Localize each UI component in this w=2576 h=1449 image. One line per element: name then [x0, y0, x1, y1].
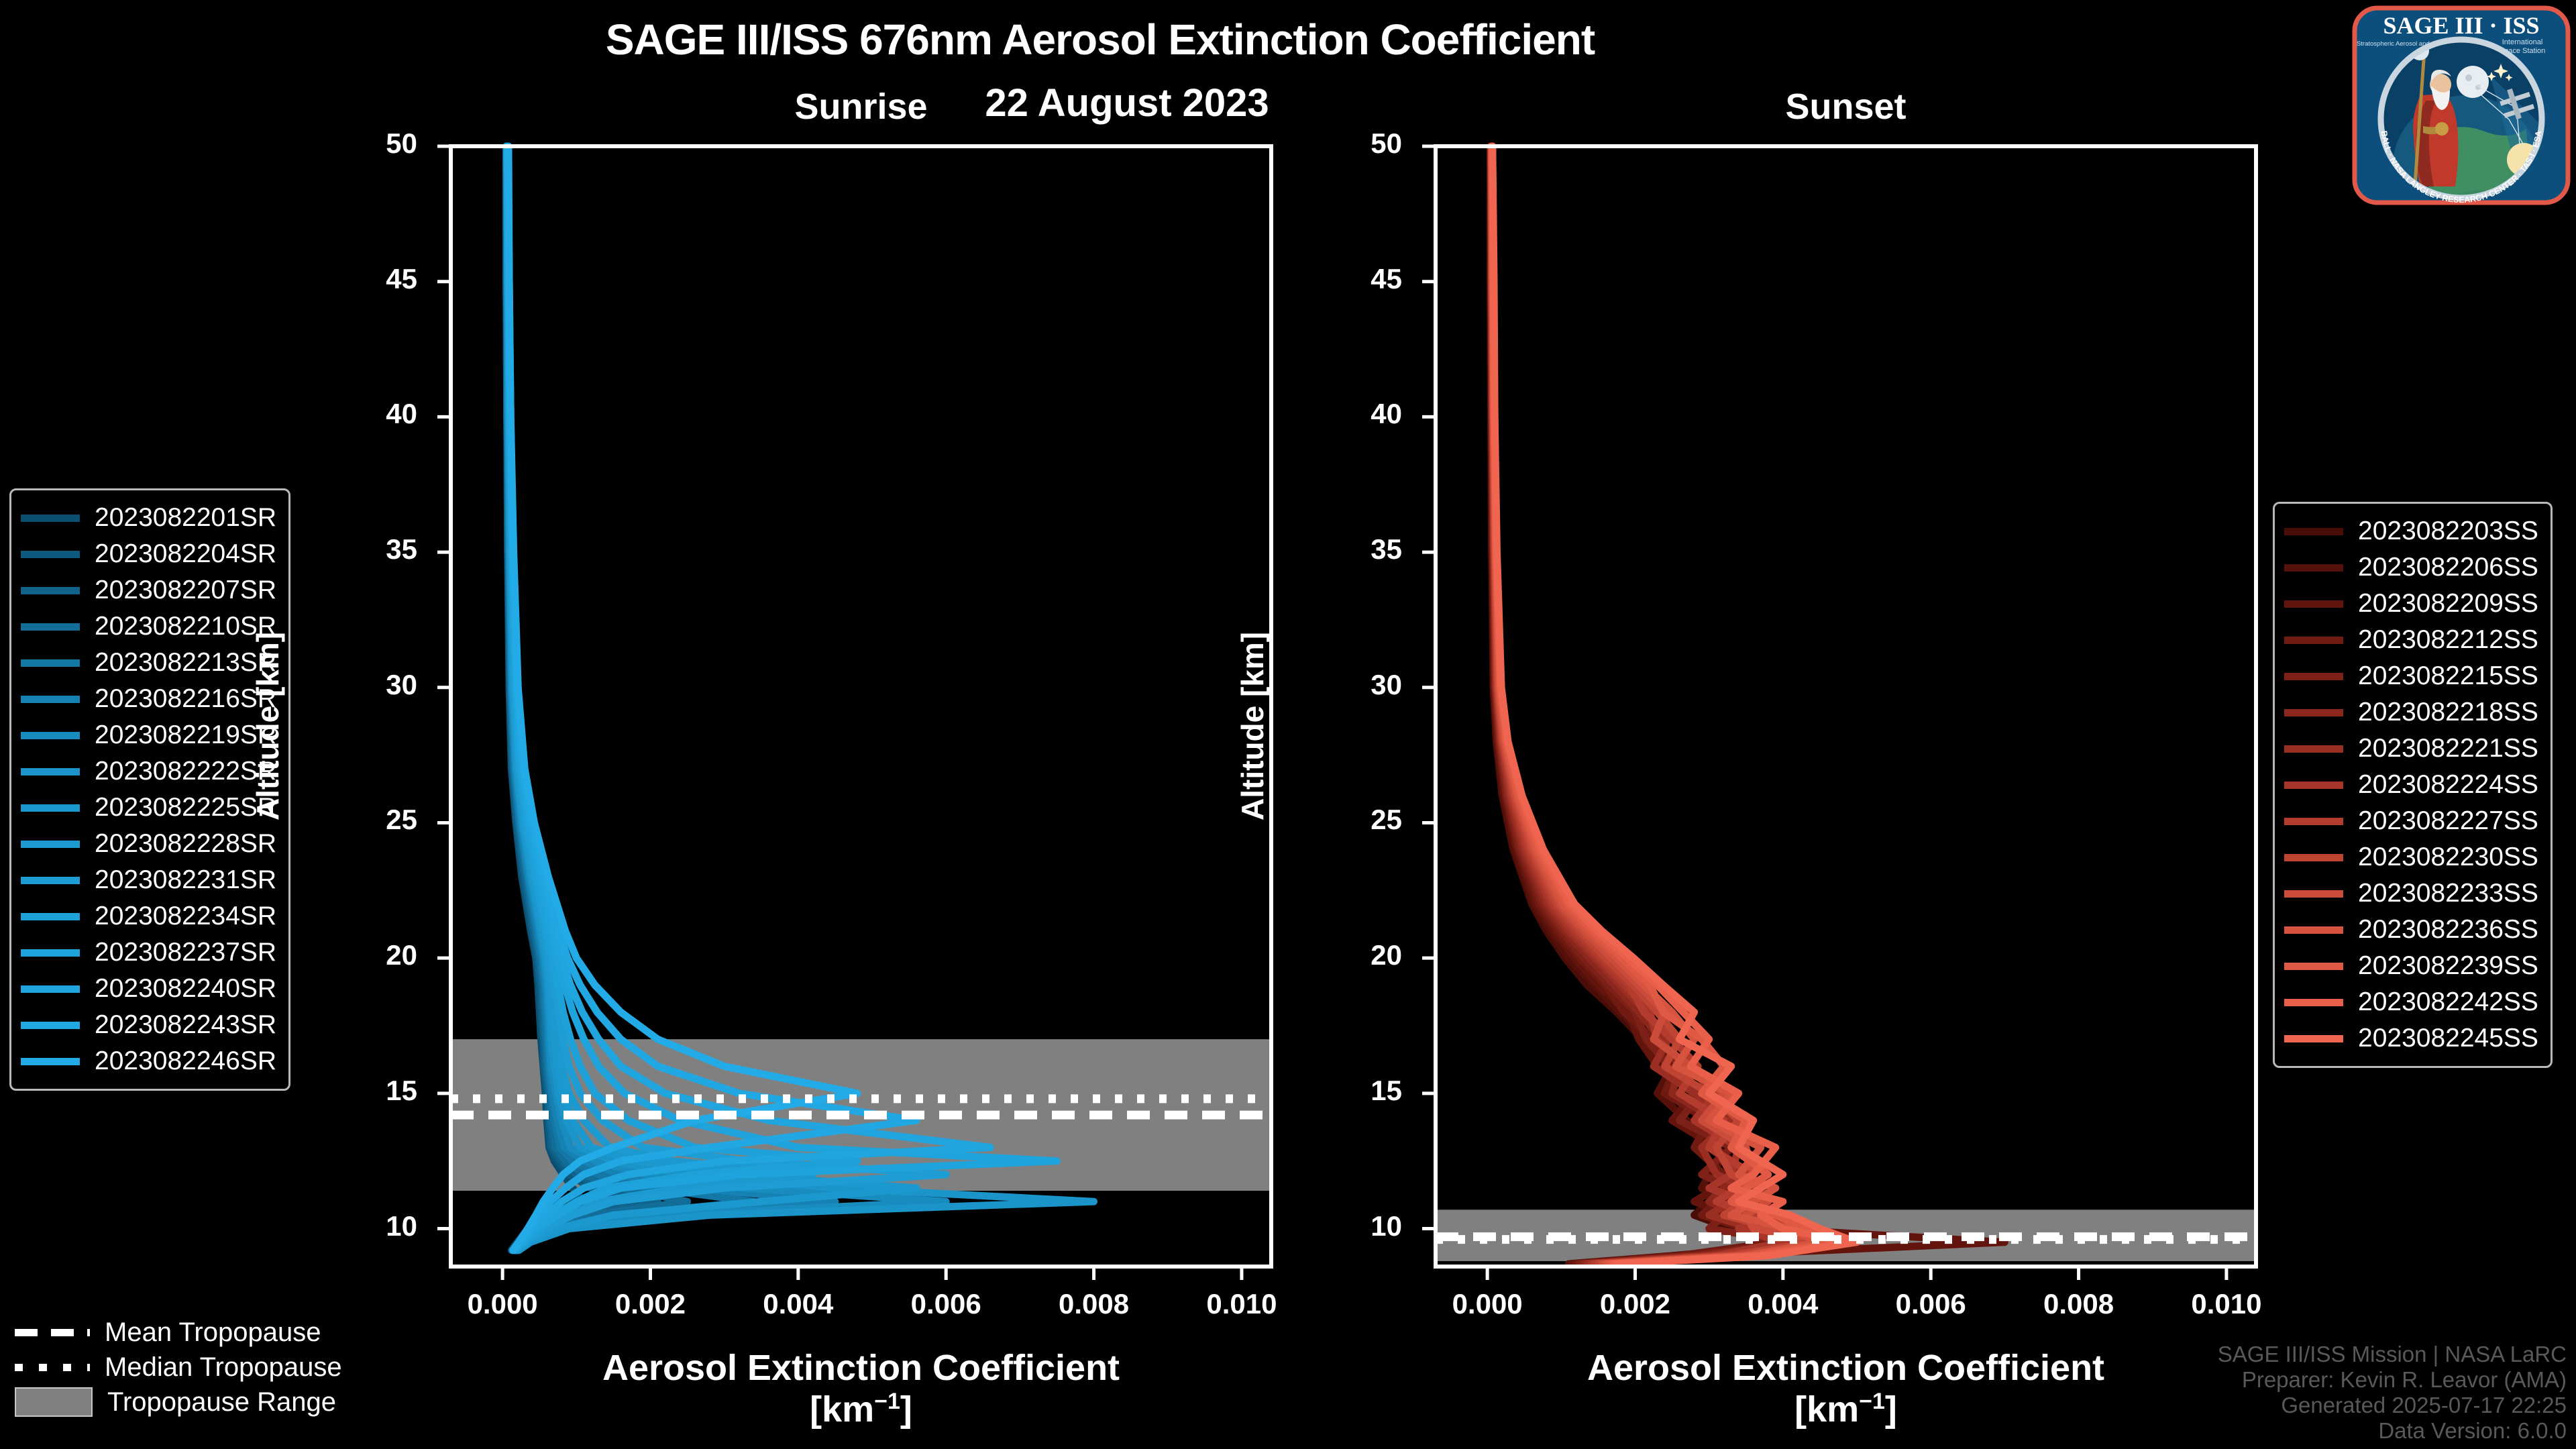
credit-line-0: SAGE III/ISS Mission | NASA LaRC [2218, 1342, 2567, 1367]
logo-title: SAGE III · ISS [2383, 12, 2539, 39]
logo-subtitle-right-1: International [2502, 38, 2543, 46]
moon [2457, 66, 2489, 98]
credit-line-3: Data Version: 6.0.0 [2218, 1418, 2567, 1444]
credit-line-2: Generated 2025-07-17 22:25 [2218, 1393, 2567, 1418]
sage-iii-iss-mission-patch-logo: SAGE III · ISS Stratospheric Aerosol and… [2351, 1, 2572, 209]
plot-background [1436, 146, 2256, 1267]
plot-panel-sunset [1422, 146, 2256, 1280]
credits-block: SAGE III/ISS Mission | NASA LaRC Prepare… [2218, 1342, 2567, 1444]
credit-line-1: Preparer: Kevin R. Leavor (AMA) [2218, 1367, 2567, 1393]
plot-panel-sunrise [437, 146, 1271, 1280]
profile-plots [0, 0, 2576, 1449]
moon-crater [2465, 74, 2472, 81]
